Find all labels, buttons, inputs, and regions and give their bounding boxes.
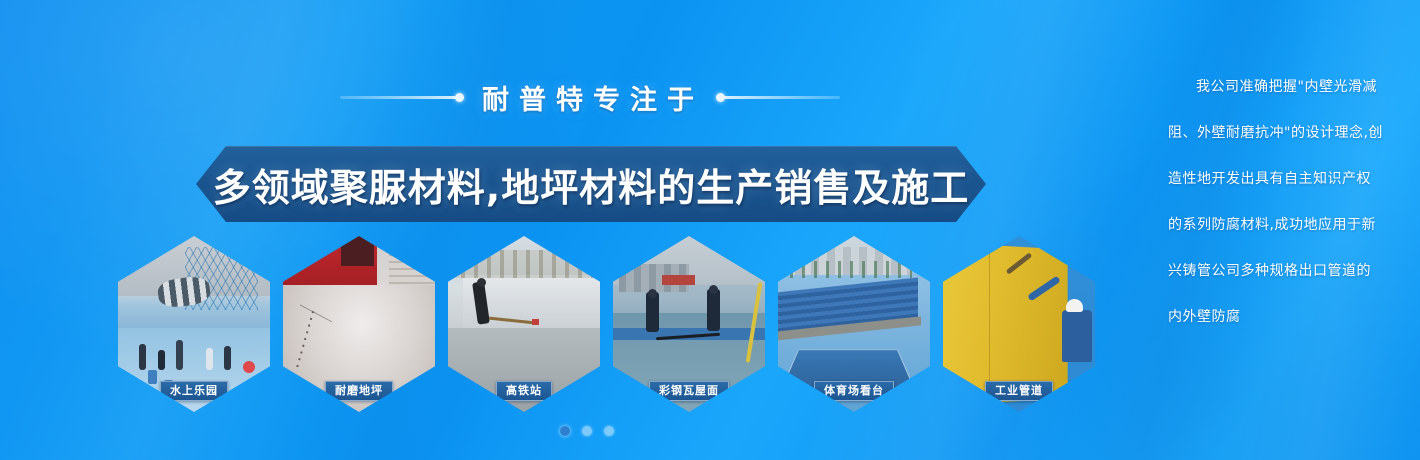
promo-banner: 耐普特专注于 多领域聚脲材料,地坪材料的生产销售及施工 水上乐园 <box>0 0 1420 460</box>
decorative-rule-right-icon <box>720 96 840 99</box>
carousel-dot-2[interactable] <box>582 426 592 436</box>
carousel-dot-3[interactable] <box>604 426 614 436</box>
hexagon-card-row: 水上乐园 耐磨地坪 高铁站 <box>118 236 1095 412</box>
eyebrow-title-group: 耐普特专注于 <box>160 78 1020 117</box>
description-line: 造性地开发出具有自主知识产权 <box>1168 172 1380 186</box>
description-column: 我公司准确把握"内壁光滑减 阻、外壁耐磨抗冲"的设计理念,创 造性地开发出具有自… <box>1168 80 1380 324</box>
hexagon-card-industrial-pipeline[interactable]: 工业管道 <box>943 236 1095 412</box>
hexagon-card-color-steel-tile-roof[interactable]: 彩钢瓦屋面 <box>613 236 765 412</box>
carousel-dot-1[interactable] <box>560 426 570 436</box>
description-line: 的系列防腐材料,成功地应用于新 <box>1168 218 1380 232</box>
hexagon-card-water-park[interactable]: 水上乐园 <box>118 236 270 412</box>
hexagon-label: 耐磨地坪 <box>325 381 393 401</box>
hexagon-label: 高铁站 <box>496 381 552 401</box>
hexagon-label: 彩钢瓦屋面 <box>649 381 729 401</box>
hexagon-card-stadium-grandstand[interactable]: 体育场看台 <box>778 236 930 412</box>
hexagon-card-wear-resistant-flooring[interactable]: 耐磨地坪 <box>283 236 435 412</box>
hexagon-card-high-speed-rail-station[interactable]: 高铁站 <box>448 236 600 412</box>
headline-banner: 多领域聚脲材料,地坪材料的生产销售及施工 <box>196 146 986 222</box>
description-line: 阻、外壁耐磨抗冲"的设计理念,创 <box>1168 126 1380 140</box>
decorative-rule-left-icon <box>340 96 460 99</box>
decorative-dot-icon <box>455 93 464 102</box>
description-line: 兴铸管公司多种规格出口管道的 <box>1168 264 1380 278</box>
description-line: 内外壁防腐 <box>1168 310 1380 324</box>
hexagon-label: 水上乐园 <box>160 381 228 401</box>
decorative-dot-icon <box>716 93 725 102</box>
hexagon-label: 体育场看台 <box>814 381 894 401</box>
headline-text: 多领域聚脲材料,地坪材料的生产销售及施工 <box>196 146 986 222</box>
eyebrow-title: 耐普特专注于 <box>476 78 704 117</box>
carousel-dots[interactable] <box>560 426 614 436</box>
description-line: 我公司准确把握"内壁光滑减 <box>1168 80 1380 94</box>
hexagon-label: 工业管道 <box>985 381 1053 401</box>
